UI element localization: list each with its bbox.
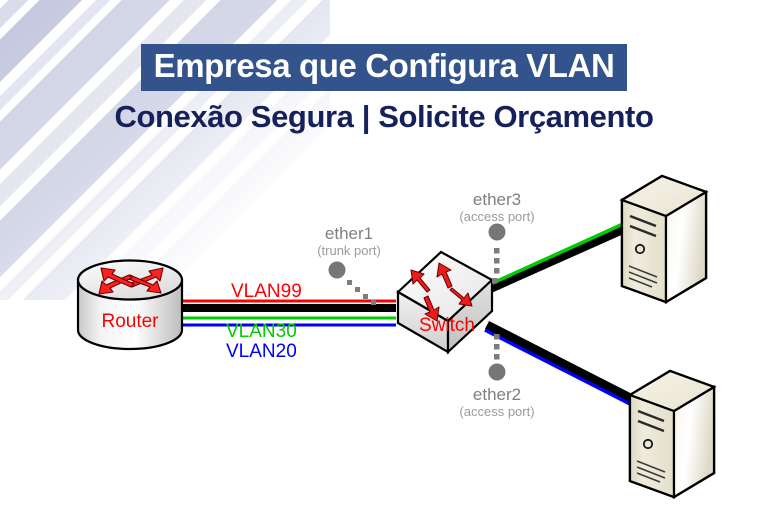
vlan99-label: VLAN99	[231, 281, 302, 302]
port-callout-ether1: ether1 (trunk port)	[317, 224, 381, 305]
port-ether1-mode: (trunk port)	[317, 243, 381, 258]
port-ether1-name: ether1	[325, 224, 373, 243]
network-diagram: Router Switch	[0, 0, 768, 512]
port-ether1-dot	[329, 262, 346, 279]
device-switch[interactable]: Switch	[398, 252, 492, 352]
port-ether3-mode: (access port)	[459, 209, 534, 224]
port-ether2-dot	[489, 364, 506, 381]
port-ether3-leader	[492, 248, 500, 284]
device-router[interactable]: Router	[78, 261, 182, 350]
server-top-power-button	[636, 245, 644, 253]
port-ether2-name: ether2	[473, 385, 521, 404]
access-cable-ether3	[484, 224, 626, 290]
screenshot-canvas: Empresa que Configura VLAN Conexão Segur…	[0, 0, 768, 512]
vlan30-label: VLAN30	[226, 321, 297, 342]
port-ether2-mode: (access port)	[459, 404, 534, 419]
port-ether3-name: ether3	[473, 190, 521, 209]
switch-label: Switch	[419, 315, 475, 336]
port-ether2-leader	[494, 334, 500, 360]
port-ether3-dot	[489, 224, 506, 241]
router-label: Router	[101, 311, 159, 332]
access-cable-ether3-black	[487, 228, 626, 290]
server-bottom-power-button	[644, 440, 652, 448]
vlan20-label: VLAN20	[226, 341, 297, 362]
device-server-top[interactable]	[622, 176, 706, 302]
device-server-bottom[interactable]	[630, 371, 714, 497]
